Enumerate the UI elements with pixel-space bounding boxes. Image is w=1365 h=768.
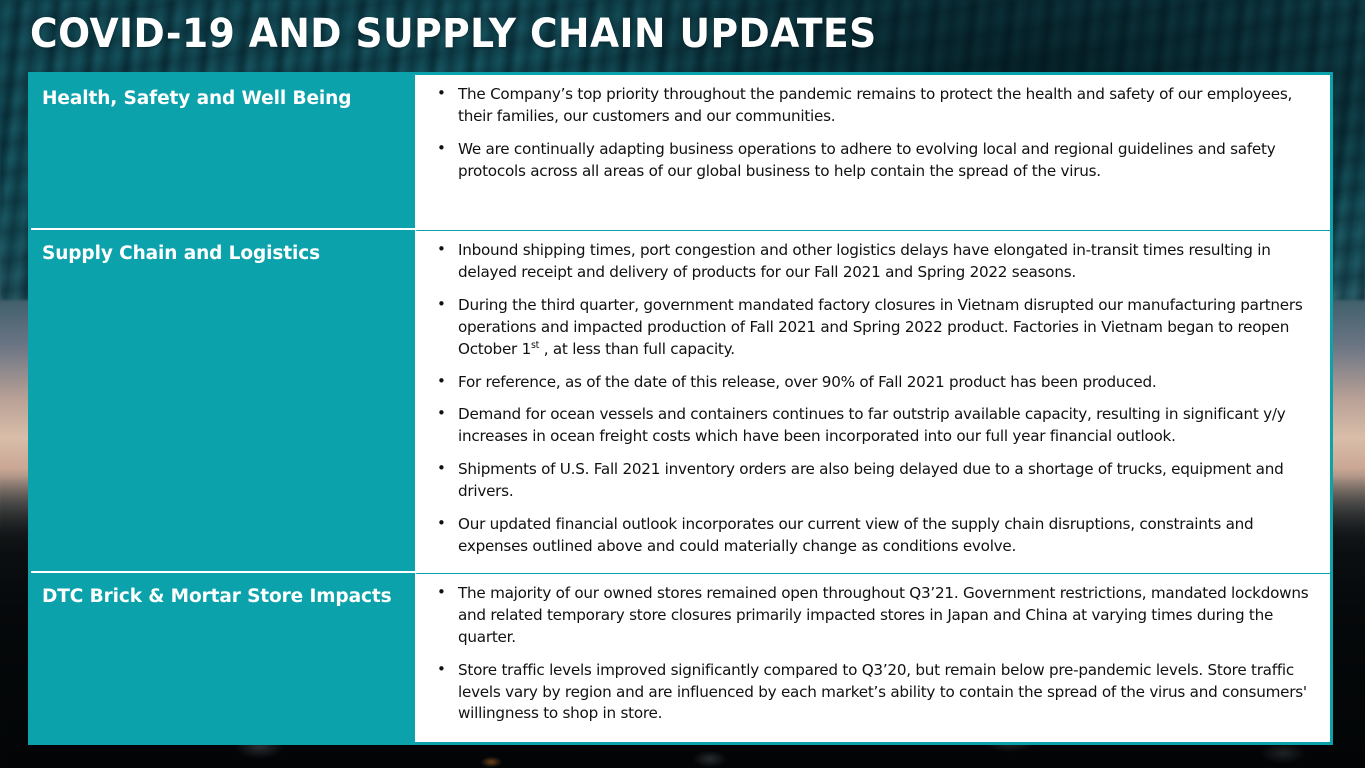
updates-table: Health, Safety and Well Being The Compan… — [28, 72, 1333, 745]
slide-title: COVID-19 AND SUPPLY CHAIN UPDATES — [30, 14, 877, 54]
bullet-item: Demand for ocean vessels and containers … — [429, 404, 1322, 448]
bullet-list-supply-chain: Inbound shipping times, port congestion … — [429, 240, 1322, 558]
bullet-item: During the third quarter, government man… — [429, 295, 1322, 361]
bullet-list-health-safety: The Company’s top priority throughout th… — [429, 84, 1322, 183]
row-body-cell-health-safety: The Company’s top priority throughout th… — [415, 75, 1330, 228]
bullet-item: The Company’s top priority throughout th… — [429, 84, 1322, 128]
row-header-label: DTC Brick & Mortar Store Impacts — [42, 587, 415, 607]
row-body-cell-supply-chain: Inbound shipping times, port congestion … — [415, 230, 1330, 571]
bullet-item: We are continually adapting business ope… — [429, 139, 1322, 183]
bullet-item: The majority of our owned stores remaine… — [429, 583, 1322, 649]
row-header-cell-health-safety: Health, Safety and Well Being — [31, 75, 415, 228]
row-header-cell-supply-chain: Supply Chain and Logistics — [31, 230, 415, 571]
row-header-label: Health, Safety and Well Being — [42, 89, 415, 109]
bullet-list-dtc-store-impacts: The majority of our owned stores remaine… — [429, 583, 1322, 725]
bullet-item: For reference, as of the date of this re… — [429, 372, 1322, 394]
table-row-health-safety: Health, Safety and Well Being The Compan… — [31, 75, 1330, 228]
bullet-item: Store traffic levels improved significan… — [429, 660, 1322, 726]
bullet-item: Inbound shipping times, port congestion … — [429, 240, 1322, 284]
row-header-cell-dtc-store-impacts: DTC Brick & Mortar Store Impacts — [31, 573, 415, 742]
bullet-item: Our updated financial outlook incorporat… — [429, 514, 1322, 558]
ordinal-suffix: st — [531, 340, 539, 351]
table-row-dtc-store-impacts: DTC Brick & Mortar Store Impacts The maj… — [31, 571, 1330, 742]
row-body-cell-dtc-store-impacts: The majority of our owned stores remaine… — [415, 573, 1330, 742]
row-header-label: Supply Chain and Logistics — [42, 244, 415, 264]
bullet-item: Shipments of U.S. Fall 2021 inventory or… — [429, 459, 1322, 503]
slide-canvas: COVID-19 AND SUPPLY CHAIN UPDATES Health… — [0, 0, 1365, 768]
table-row-supply-chain: Supply Chain and Logistics Inbound shipp… — [31, 228, 1330, 571]
